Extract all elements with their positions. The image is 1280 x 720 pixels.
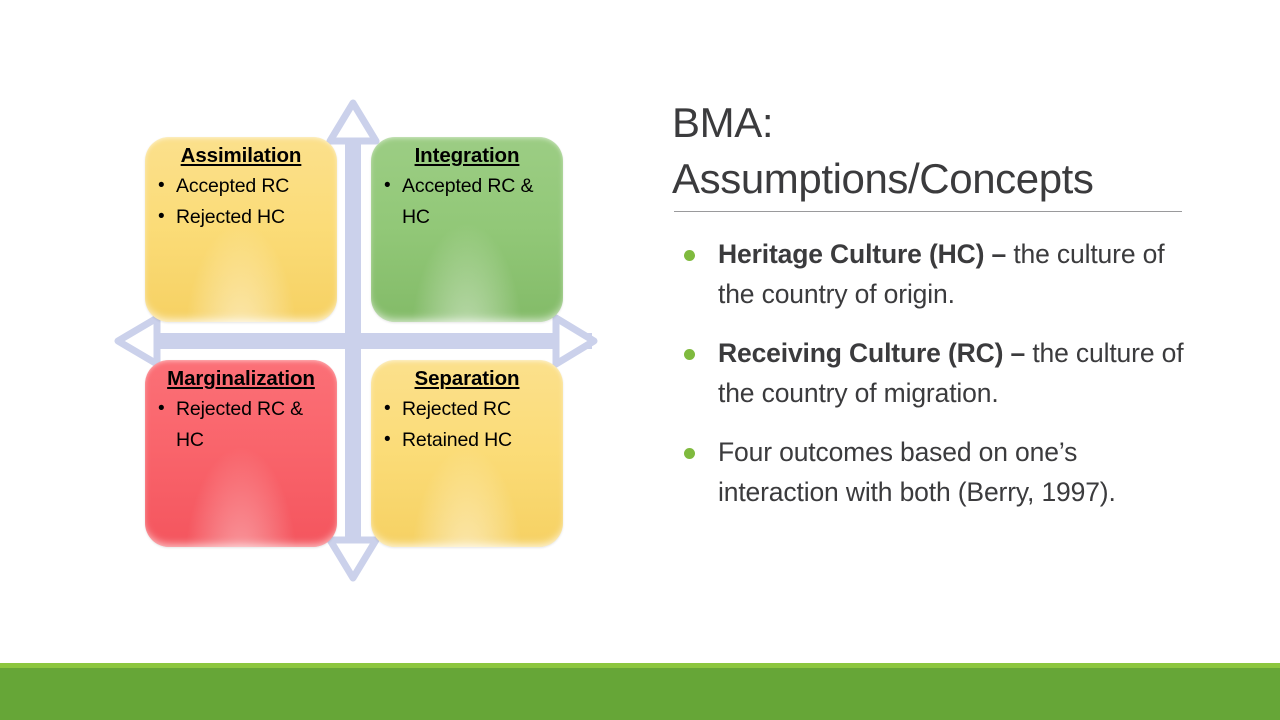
quadrant-integration[interactable]: Integration Accepted RC & HC xyxy=(371,137,563,322)
quadrant-title-assimilation: Assimilation xyxy=(155,143,327,169)
quadrant-title-separation: Separation xyxy=(381,366,553,392)
list-item: Retained HC xyxy=(381,425,553,456)
quadrant-list-separation: Rejected RC Retained HC xyxy=(381,394,553,456)
quadrant-list-assimilation: Accepted RC Rejected HC xyxy=(155,171,327,233)
quadrant-marginalization[interactable]: Marginalization Rejected RC & HC xyxy=(145,360,337,547)
list-item: Accepted RC xyxy=(155,171,327,202)
bullet-dot-icon xyxy=(684,349,695,360)
list-item: Heritage Culture (HC) – the culture of t… xyxy=(672,234,1192,314)
list-item: Receiving Culture (RC) – the culture of … xyxy=(672,333,1192,413)
quadrant-list-integration: Accepted RC & HC xyxy=(381,171,553,233)
list-item: Rejected RC & HC xyxy=(155,394,327,456)
list-item: Accepted RC & HC xyxy=(381,171,553,233)
footer-band-dark xyxy=(0,668,1280,720)
list-item: Rejected RC xyxy=(381,394,553,425)
slide-canvas: Assimilation Accepted RC Rejected HC Int… xyxy=(0,0,1280,720)
list-item: Four outcomes based on one’s interaction… xyxy=(672,432,1192,512)
bullet-lead-text: Receiving Culture (RC) – xyxy=(718,338,1032,368)
page-title: BMA: Assumptions/Concepts xyxy=(672,95,1192,207)
quadrant-list-marginalization: Rejected RC & HC xyxy=(155,394,327,456)
quadrant-assimilation[interactable]: Assimilation Accepted RC Rejected HC xyxy=(145,137,337,322)
quadrant-title-marginalization: Marginalization xyxy=(155,366,327,392)
content-panel: BMA: Assumptions/Concepts Heritage Cultu… xyxy=(672,95,1192,531)
quadrant-title-integration: Integration xyxy=(381,143,553,169)
axis-arrows xyxy=(0,0,640,650)
acculturation-quadrant-diagram: Assimilation Accepted RC Rejected HC Int… xyxy=(0,0,640,650)
bullet-dot-icon xyxy=(684,250,695,261)
bullet-lead-text: Heritage Culture (HC) – xyxy=(718,239,1013,269)
concept-bullet-list: Heritage Culture (HC) – the culture of t… xyxy=(672,234,1192,512)
list-item: Rejected HC xyxy=(155,202,327,233)
bullet-body-text: Four outcomes based on one’s interaction… xyxy=(718,437,1116,507)
title-divider xyxy=(674,211,1182,212)
bullet-dot-icon xyxy=(684,448,695,459)
quadrant-separation[interactable]: Separation Rejected RC Retained HC xyxy=(371,360,563,547)
